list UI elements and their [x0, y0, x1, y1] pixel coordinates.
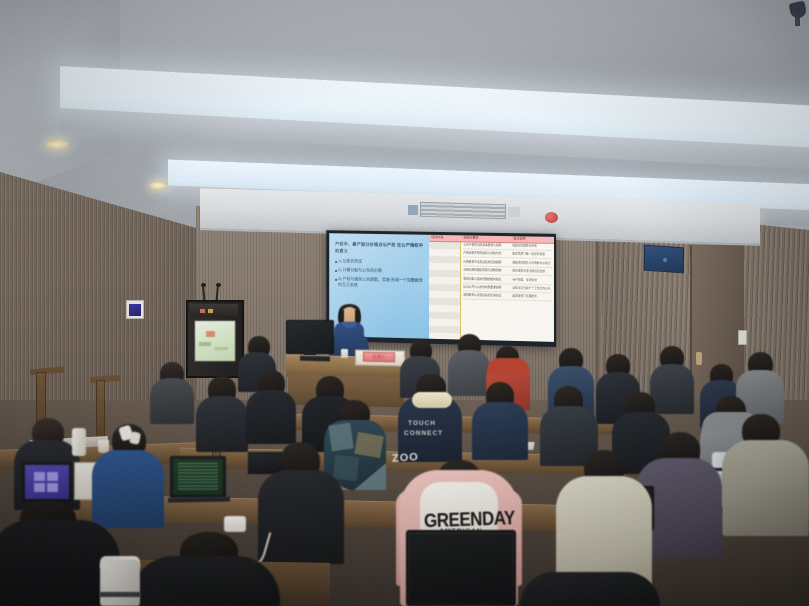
wall-control-panel[interactable]: [126, 300, 144, 319]
slide-bullet-3: 3) 产权与服务公共职能、实施 形成一个完整配合的互正系统: [335, 276, 424, 290]
audience-torso-blue-shirt: [92, 450, 164, 528]
table-row: 分配比例的确定原则与调整机制 经议事程序表决通过后生效: [463, 269, 551, 277]
table-cell: 按规定办理登记手续: [512, 244, 551, 249]
thermos-band: [100, 592, 140, 597]
av-display-content: [199, 342, 211, 346]
audience-torso: [520, 572, 660, 606]
air-conditioning-vent: [420, 202, 506, 219]
door-handle-icon[interactable]: [696, 352, 702, 365]
slide-title: 产权中、事产部分价格点与产权 在公产摊权中的意义: [335, 241, 424, 256]
slide-bullet-2: 2) 计算分配与公布的价数: [335, 267, 424, 275]
table-row: 监督检查与责任追究的实施办法 由监督部门定期检查: [463, 294, 551, 302]
slide-bullet-1: 1) 记账的凭证: [335, 258, 424, 266]
av-cabinet-top-panel[interactable]: [190, 304, 238, 317]
table-main-column: 公共产权登记的基本要求与说明 按规定办理登记手续 产权证明文件的出具与审核方式 …: [461, 242, 554, 342]
table-cell: 分配比例的确定原则与调整机制: [463, 269, 509, 274]
table-cell: 由监督部门定期检查: [512, 295, 551, 300]
audience-torso: [196, 396, 248, 452]
windows-logo-pane-icon: [47, 483, 58, 492]
table-row: 收益归集与使用管理的相关规定 专户管理、专款专用: [463, 277, 551, 285]
av-indicator-led-icon: [200, 309, 205, 313]
table-cell: 公共产权登记的基本要求与说明: [463, 243, 509, 248]
nameplate: 主讲人: [363, 352, 395, 363]
ac-vent-tab-right: [508, 207, 520, 217]
av-display-content: [206, 331, 215, 337]
table-row: 价格核算方法及其适用范围说明 依据评估报告与市场参考价执行: [463, 260, 551, 268]
audience-torso: [722, 440, 809, 536]
audience-torso: [130, 556, 280, 606]
lecture-hall-photo: 产权中、事产部分价格点与产权 在公产摊权中的意义 1) 记账的凭证 2) 计算分…: [0, 0, 809, 606]
table-left-column: [429, 242, 461, 340]
table-cell: 信息公开与公示的时限要求说明: [463, 286, 509, 291]
nameplate-text: 主讲人: [373, 354, 386, 360]
projection-screen-surface: 产权中、事产部分价格点与产权 在公产摊权中的意义 1) 记账的凭证 2) 计算分…: [329, 233, 554, 342]
table-cell: 由主管部门统一出具并备案: [512, 253, 551, 258]
desk-cup: [341, 349, 348, 358]
av-cabinet-display: [194, 320, 236, 362]
smoke-alarm-icon: [545, 212, 558, 223]
tablet-small[interactable]: [248, 452, 282, 474]
downlight-icon: [150, 182, 166, 189]
tablet-screen-content: [25, 465, 69, 499]
table-header-cell: 备注说明: [511, 236, 554, 243]
audience-torso: [150, 378, 194, 424]
slide-table-body: 公共产权登记的基本要求与说明 按规定办理登记手续 产权证明文件的出具与审核方式 …: [429, 242, 554, 342]
jacket-text-zoo: ZOO: [392, 451, 420, 465]
audience-torso: [556, 476, 652, 586]
audience-scarf: [412, 392, 452, 408]
av-display-content: [214, 347, 228, 350]
audience-hood: [487, 358, 529, 374]
control-panel-screen: [129, 304, 141, 316]
laptop-screen-content: [410, 534, 512, 602]
table-row: 信息公开与公示的时限要求说明 自核定之日起十个工作日内公示: [463, 286, 551, 294]
table-header-cell: 项目内容: [429, 235, 461, 242]
table-cell: 价格核算方法及其适用范围说明: [463, 260, 509, 265]
audience-torso: [258, 470, 344, 564]
table-cell: 产权证明文件的出具与审核方式: [463, 252, 509, 257]
podium-keyboard[interactable]: [300, 356, 330, 362]
podium-monitor: [286, 320, 334, 354]
table-cell: 监督检查与责任追究的实施办法: [463, 294, 509, 299]
table-cell: 依据评估报告与市场参考价执行: [512, 261, 551, 266]
table-cell: 专户管理、专款专用: [512, 278, 551, 283]
slide-table-panel: 项目内容 说明与要求 备注说明 公共产权登记的基本要求与说明 按规定办理登记手续…: [429, 235, 554, 342]
downlight-icon: [46, 140, 68, 149]
windows-logo-pane-icon: [47, 472, 58, 481]
jacket-graphic-patch: [354, 432, 383, 458]
thermos-flask-small: [72, 428, 86, 456]
windows-logo-pane-icon: [34, 483, 45, 492]
audience-torso: [448, 350, 490, 396]
av-indicator-led-icon: [208, 309, 213, 313]
thermos-flask-white: [100, 560, 140, 606]
audience-torso: [650, 364, 694, 414]
audience-torso: [472, 402, 528, 460]
audience-torso: [246, 390, 296, 444]
door-switch-plate[interactable]: [738, 330, 747, 345]
table-header-cell: 说明与要求: [461, 235, 511, 242]
table-row: 公共产权登记的基本要求与说明 按规定办理登记手续: [463, 243, 551, 250]
jacket-text-line1: TOUCH: [408, 420, 454, 427]
jacket-graphic-patch: [333, 455, 359, 481]
table-cell: 经议事程序表决通过后生效: [512, 270, 551, 275]
laptop-document-lines: [178, 463, 218, 491]
chair-leg[interactable]: [96, 380, 105, 442]
jacket-graphic-patch: [328, 423, 353, 452]
table-cell: 自核定之日起十个工作日内公示: [512, 287, 551, 292]
table-row: 产权证明文件的出具与审核方式 由主管部门统一出具并备案: [463, 252, 551, 260]
table-cell: 收益归集与使用管理的相关规定: [463, 277, 509, 282]
windows-logo-pane-icon: [34, 472, 45, 481]
jacket-text-line2: CONNECT: [404, 430, 456, 437]
ac-vent-tab-left: [408, 205, 418, 215]
speaker-indicator-icon: [663, 258, 667, 262]
